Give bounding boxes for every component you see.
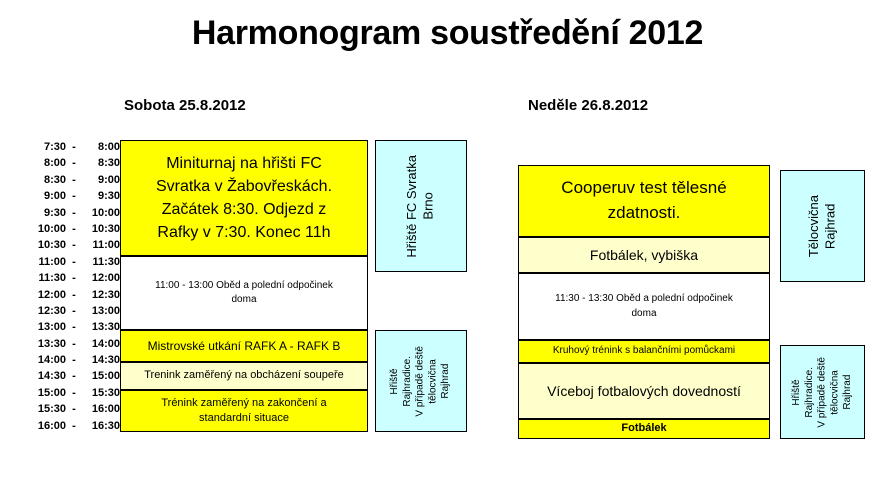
time-dash: - bbox=[69, 385, 79, 401]
time-dash: - bbox=[69, 237, 79, 253]
activity-text: Cooperuv test tělesnézdatnosti. bbox=[557, 176, 730, 225]
time-dash: - bbox=[69, 368, 79, 384]
time-row: 8:30-9:00 bbox=[28, 172, 120, 188]
time-start: 11:00 bbox=[28, 254, 66, 270]
sunday-venue-block: HřištěRajhradice.V případě deštětělocvič… bbox=[780, 345, 865, 439]
time-start: 9:30 bbox=[28, 205, 66, 221]
time-start: 10:00 bbox=[28, 221, 66, 237]
sunday-venue-block: TělocvičnaRajhrad bbox=[780, 170, 865, 282]
time-row: 11:30-12:00 bbox=[28, 270, 120, 286]
time-end: 9:30 bbox=[82, 188, 120, 204]
time-end: 12:00 bbox=[82, 270, 120, 286]
time-end: 15:00 bbox=[82, 368, 120, 384]
time-end: 14:30 bbox=[82, 352, 120, 368]
time-end: 8:30 bbox=[82, 155, 120, 171]
time-start: 14:00 bbox=[28, 352, 66, 368]
time-row: 16:00-16:30 bbox=[28, 418, 120, 434]
time-dash: - bbox=[69, 205, 79, 221]
saturday-header: Sobota 25.8.2012 bbox=[124, 97, 246, 114]
time-start: 13:00 bbox=[28, 319, 66, 335]
time-end: 11:30 bbox=[82, 254, 120, 270]
time-row: 14:30-15:00 bbox=[28, 368, 120, 384]
time-dash: - bbox=[69, 352, 79, 368]
activity-text: Trenink zaměřený na obcházení soupeře bbox=[140, 368, 348, 383]
time-start: 9:00 bbox=[28, 188, 66, 204]
time-dash: - bbox=[69, 155, 79, 171]
saturday-venue-block: HřištěRajhradice.V případě deštětělocvič… bbox=[375, 330, 467, 432]
time-row: 12:00-12:30 bbox=[28, 287, 120, 303]
time-start: 12:30 bbox=[28, 303, 66, 319]
time-row: 9:00-9:30 bbox=[28, 188, 120, 204]
time-dash: - bbox=[69, 139, 79, 155]
saturday-activity-block: Mistrovské utkání RAFK A - RAFK B bbox=[120, 330, 368, 362]
activity-text: 11:00 - 13:00 Oběd a polední odpočinekdo… bbox=[151, 279, 337, 307]
sunday-activity-block: Víceboj fotbalových dovedností bbox=[518, 363, 770, 419]
time-row: 12:30-13:00 bbox=[28, 303, 120, 319]
time-dash: - bbox=[69, 287, 79, 303]
saturday-activity-block: Miniturnaj na hřišti FCSvratka v Žabovře… bbox=[120, 140, 368, 256]
time-end: 10:00 bbox=[82, 205, 120, 221]
saturday-activity-block: 11:00 - 13:00 Oběd a polední odpočinekdo… bbox=[120, 256, 368, 330]
time-dash: - bbox=[69, 254, 79, 270]
time-row: 7:30-8:00 bbox=[28, 139, 120, 155]
time-row: 14:00-14:30 bbox=[28, 352, 120, 368]
time-start: 13:30 bbox=[28, 336, 66, 352]
venue-text: Hřiště FC SvratkaBrno bbox=[404, 155, 437, 258]
time-start: 8:00 bbox=[28, 155, 66, 171]
time-dash: - bbox=[69, 188, 79, 204]
venue-text: TělocvičnaRajhrad bbox=[806, 195, 839, 257]
venue-text: HřištěRajhradice.V případě deštětělocvič… bbox=[389, 346, 453, 417]
time-dash: - bbox=[69, 418, 79, 434]
time-row: 13:30-14:00 bbox=[28, 336, 120, 352]
time-row: 15:30-16:00 bbox=[28, 401, 120, 417]
time-dash: - bbox=[69, 319, 79, 335]
time-end: 16:30 bbox=[82, 418, 120, 434]
activity-text: 11:30 - 13:30 Oběd a polední odpočinekdo… bbox=[551, 292, 737, 321]
time-start: 7:30 bbox=[28, 139, 66, 155]
time-dash: - bbox=[69, 303, 79, 319]
activity-text: Miniturnaj na hřišti FCSvratka v Žabovře… bbox=[152, 152, 336, 245]
saturday-venue-block: Hřiště FC SvratkaBrno bbox=[375, 140, 467, 272]
time-end: 10:30 bbox=[82, 221, 120, 237]
time-dash: - bbox=[69, 221, 79, 237]
time-start: 11:30 bbox=[28, 270, 66, 286]
time-end: 14:00 bbox=[82, 336, 120, 352]
time-dash: - bbox=[69, 401, 79, 417]
time-start: 14:30 bbox=[28, 368, 66, 384]
sunday-activity-block: 11:30 - 13:30 Oběd a polední odpočinekdo… bbox=[518, 273, 770, 340]
saturday-activity-block: Trenink zaměřený na obcházení soupeře bbox=[120, 362, 368, 390]
activity-text: Trénink zaměřený na zakončení astandardn… bbox=[157, 396, 330, 427]
time-row: 9:30-10:00 bbox=[28, 205, 120, 221]
time-row: 13:00-13:30 bbox=[28, 319, 120, 335]
time-dash: - bbox=[69, 336, 79, 352]
time-end: 8:00 bbox=[82, 139, 120, 155]
time-dash: - bbox=[69, 270, 79, 286]
time-end: 13:00 bbox=[82, 303, 120, 319]
sunday-header: Neděle 26.8.2012 bbox=[528, 97, 648, 114]
time-start: 15:00 bbox=[28, 385, 66, 401]
time-start: 10:30 bbox=[28, 237, 66, 253]
time-end: 9:00 bbox=[82, 172, 120, 188]
activity-text: Fotbálek bbox=[617, 421, 670, 437]
time-row: 15:00-15:30 bbox=[28, 385, 120, 401]
page-title: Harmonogram soustředění 2012 bbox=[0, 14, 895, 53]
sunday-activity-block: Kruhový trénink s balančními pomůckami bbox=[518, 340, 770, 363]
time-end: 11:00 bbox=[82, 237, 120, 253]
sunday-activity-block: Fotbálek bbox=[518, 419, 770, 439]
time-column: 7:30-8:008:00-8:308:30-9:009:00-9:309:30… bbox=[28, 139, 120, 434]
time-start: 12:00 bbox=[28, 287, 66, 303]
activity-text: Mistrovské utkání RAFK A - RAFK B bbox=[144, 338, 345, 355]
activity-text: Kruhový trénink s balančními pomůckami bbox=[549, 344, 739, 359]
time-end: 16:00 bbox=[82, 401, 120, 417]
sunday-activity-block: Cooperuv test tělesnézdatnosti. bbox=[518, 165, 770, 237]
time-dash: - bbox=[69, 172, 79, 188]
venue-text: HřištěRajhradice.V případě deštětělocvič… bbox=[791, 357, 855, 428]
time-row: 8:00-8:30 bbox=[28, 155, 120, 171]
saturday-activity-block: Trénink zaměřený na zakončení astandardn… bbox=[120, 390, 368, 432]
time-end: 15:30 bbox=[82, 385, 120, 401]
activity-text: Fotbálek, vybiška bbox=[586, 245, 702, 265]
time-row: 10:00-10:30 bbox=[28, 221, 120, 237]
time-start: 8:30 bbox=[28, 172, 66, 188]
activity-text: Víceboj fotbalových dovedností bbox=[543, 381, 745, 401]
time-end: 12:30 bbox=[82, 287, 120, 303]
time-row: 10:30-11:00 bbox=[28, 237, 120, 253]
time-start: 16:00 bbox=[28, 418, 66, 434]
time-start: 15:30 bbox=[28, 401, 66, 417]
time-end: 13:30 bbox=[82, 319, 120, 335]
sunday-activity-block: Fotbálek, vybiška bbox=[518, 237, 770, 273]
time-row: 11:00-11:30 bbox=[28, 254, 120, 270]
